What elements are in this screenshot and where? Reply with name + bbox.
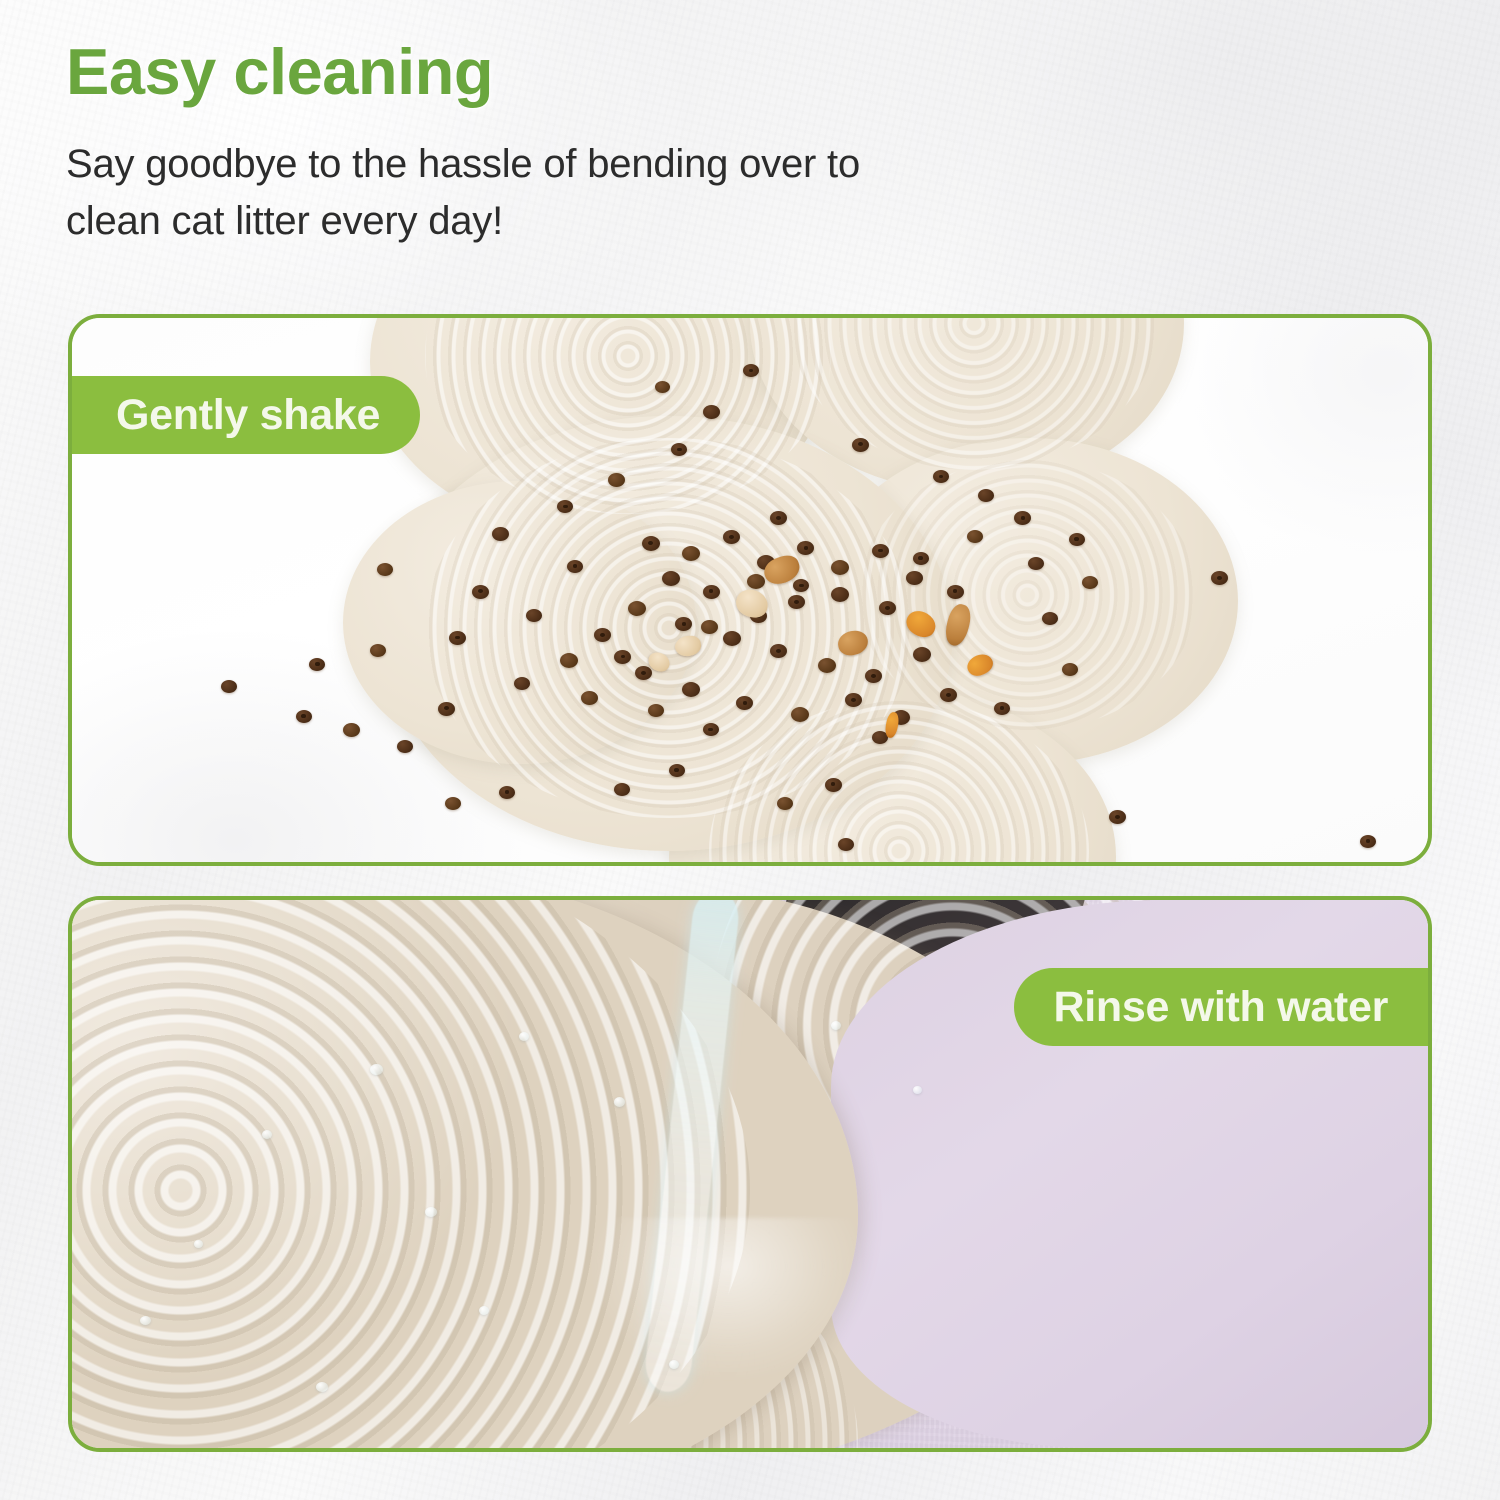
kibble-pellet [872, 544, 889, 558]
kibble-pellet [296, 710, 312, 723]
kibble-pellet [825, 778, 842, 792]
kibble-pellet [994, 702, 1010, 715]
kibble-pellet [913, 552, 929, 565]
product-photo-shake: Gently shake [72, 318, 1428, 862]
kibble-pellet [865, 669, 882, 683]
kibble-pellet [723, 530, 740, 544]
header-block: Easy cleaning Say goodbye to the hassle … [66, 38, 1126, 251]
kibble-pellet [567, 560, 583, 573]
subtitle-line-1: Say goodbye to the hassle of bending ove… [66, 136, 1126, 193]
kibble-pellet [662, 571, 680, 586]
kibble-pellet [472, 585, 489, 599]
kibble-pellet [1069, 533, 1085, 546]
kibble-pellet [703, 405, 720, 419]
water-droplet [831, 1021, 841, 1030]
product-feature-card: Easy cleaning Say goodbye to the hassle … [0, 0, 1500, 1500]
kibble-pellet [947, 585, 964, 599]
kibble-pellet [669, 764, 685, 777]
page-subtitle: Say goodbye to the hassle of bending ove… [66, 136, 1126, 250]
kibble-pellet [1360, 835, 1376, 848]
kibble-pellet [642, 536, 660, 551]
kibble-pellet [514, 677, 530, 690]
water-droplet [262, 1130, 272, 1139]
kibble-pellet [723, 631, 741, 646]
kibble-pellet [838, 838, 854, 851]
water-droplet [194, 1240, 203, 1248]
step-panel-gently-shake: Gently shake [68, 314, 1432, 866]
kibble-pellet [445, 797, 461, 810]
kibble-pellet [818, 658, 836, 673]
kibble-pellet [438, 702, 455, 716]
kibble-pellet [635, 666, 652, 680]
water-droplet [669, 1360, 679, 1369]
kibble-pellet [377, 563, 393, 576]
kibble-pellet [777, 797, 793, 810]
step-badge-gently-shake[interactable]: Gently shake [68, 376, 420, 454]
kibble-pellet [703, 585, 720, 599]
kibble-pellet [581, 691, 598, 705]
kibble-pellet [608, 473, 625, 487]
water-droplet [425, 1207, 437, 1217]
kibble-pellet [913, 647, 931, 662]
kibble-pellet [560, 653, 578, 668]
water-droplet [519, 1032, 529, 1041]
kibble-pellet [221, 680, 237, 693]
subtitle-line-2: clean cat litter every day! [66, 193, 1126, 250]
kibble-pellet [449, 631, 466, 645]
kibble-pellet [701, 620, 718, 634]
kibble-pellet [906, 571, 923, 585]
mat-ring-texture-right [858, 459, 1197, 731]
kibble-pellet [1211, 571, 1228, 585]
kibble-pellet [397, 740, 413, 753]
kibble-pellet [852, 438, 869, 452]
water-splash [587, 1218, 940, 1448]
kibble-pellet [747, 574, 765, 589]
kibble-pellet [499, 786, 515, 799]
kibble-pellet [594, 628, 611, 642]
step-panel-rinse-with-water: Rinse with water [68, 896, 1432, 1452]
step-badge-rinse-with-water[interactable]: Rinse with water [1014, 968, 1429, 1046]
kibble-pellet [655, 381, 670, 393]
kibble-pellet [791, 707, 809, 722]
kibble-pellet [940, 688, 957, 702]
kibble-pellet [309, 658, 325, 671]
kibble-pellet [879, 601, 896, 615]
kibble-pellet [1109, 810, 1126, 824]
page-title: Easy cleaning [66, 38, 1126, 106]
kibble-pellet [343, 723, 360, 737]
product-photo-rinse: Rinse with water [72, 900, 1428, 1448]
water-droplet [479, 1306, 489, 1315]
kibble-pellet [628, 601, 646, 616]
kibble-pellet [703, 723, 719, 736]
kibble-pellet [1042, 612, 1058, 625]
